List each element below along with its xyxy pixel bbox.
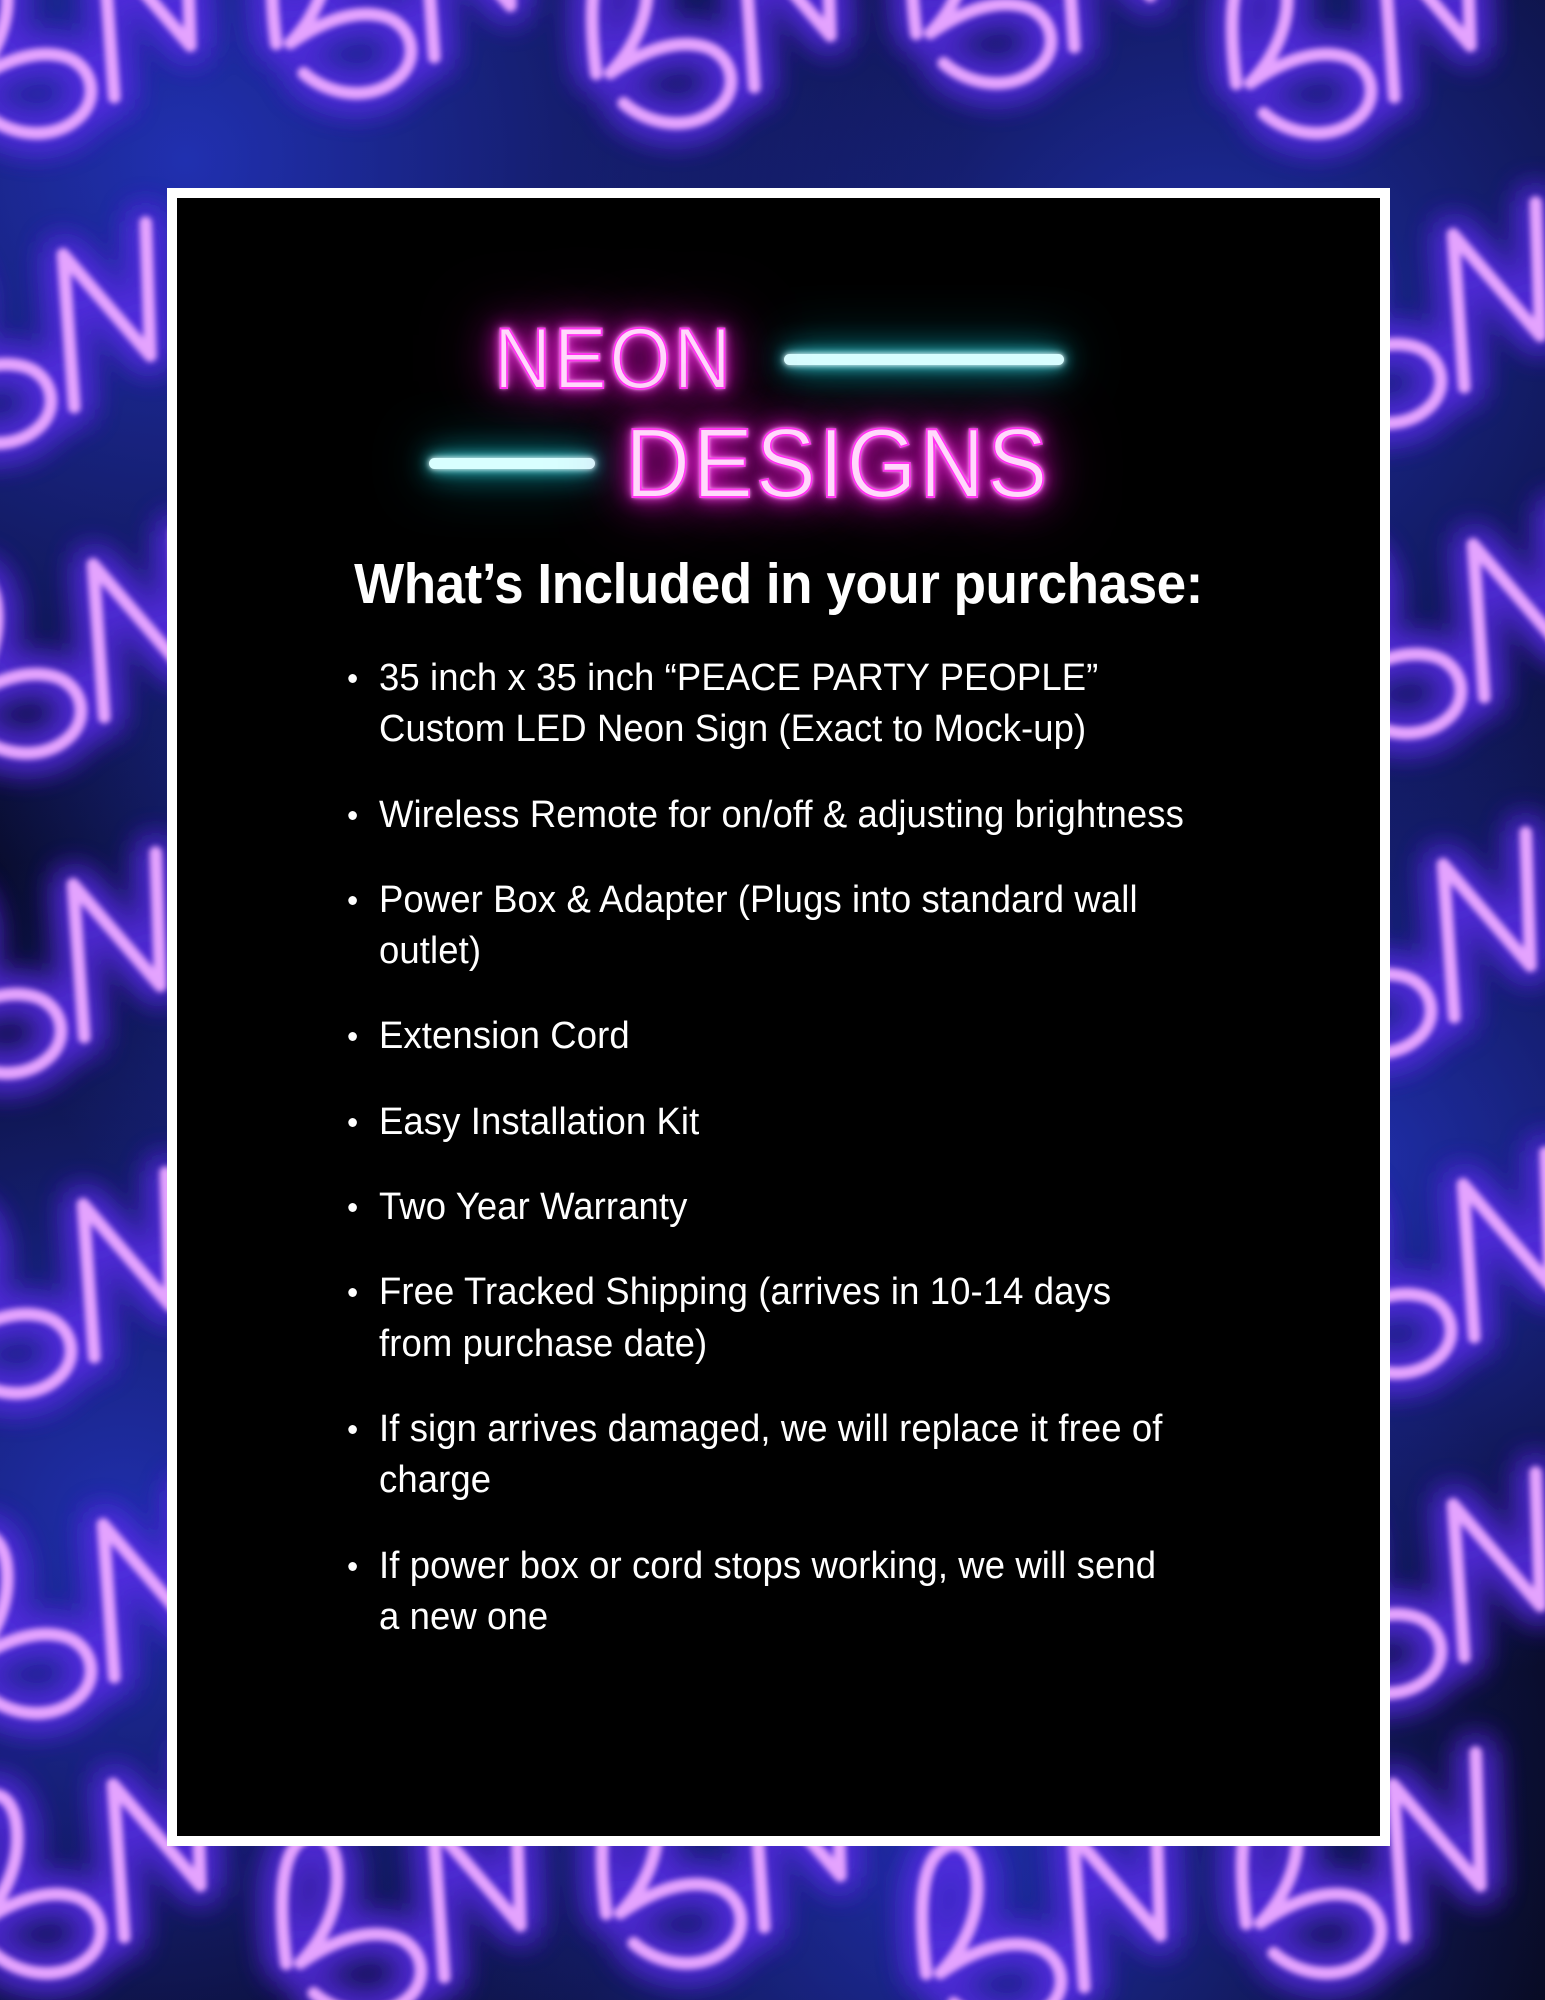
list-item: Power Box & Adapter (Plugs into standard… <box>379 875 1185 978</box>
page-title: What’s Included in your purchase: <box>267 551 1289 617</box>
logo-row-bottom: DESIGNS <box>429 414 1087 512</box>
list-item: If power box or cord stops working, we w… <box>379 1541 1185 1644</box>
poster-page: NEON DESIGNS What’s Included in your pur… <box>0 0 1545 2000</box>
list-item: 35 inch x 35 inch “PEACE PARTY PEOPLE” C… <box>379 653 1185 756</box>
content-card-frame: NEON DESIGNS What’s Included in your pur… <box>167 188 1390 1846</box>
list-item: Two Year Warranty <box>379 1182 1185 1233</box>
list-item: Easy Installation Kit <box>379 1097 1185 1148</box>
logo-word-neon: NEON <box>494 316 734 402</box>
list-item: Extension Cord <box>379 1011 1185 1062</box>
cyan-bar-top-icon <box>784 354 1064 365</box>
cyan-bar-bottom-icon <box>429 458 595 469</box>
logo-row-top: NEON <box>494 316 1064 402</box>
content-card: NEON DESIGNS What’s Included in your pur… <box>177 198 1380 1836</box>
list-item: Free Tracked Shipping (arrives in 10-14 … <box>379 1267 1185 1370</box>
list-item: Wireless Remote for on/off & adjusting b… <box>379 790 1185 841</box>
logo-word-designs: DESIGNS <box>625 414 1050 512</box>
included-items-list: 35 inch x 35 inch “PEACE PARTY PEOPLE” C… <box>229 653 1328 1643</box>
neon-designs-logo: NEON DESIGNS <box>229 294 1328 529</box>
list-item: If sign arrives damaged, we will replace… <box>379 1404 1185 1507</box>
